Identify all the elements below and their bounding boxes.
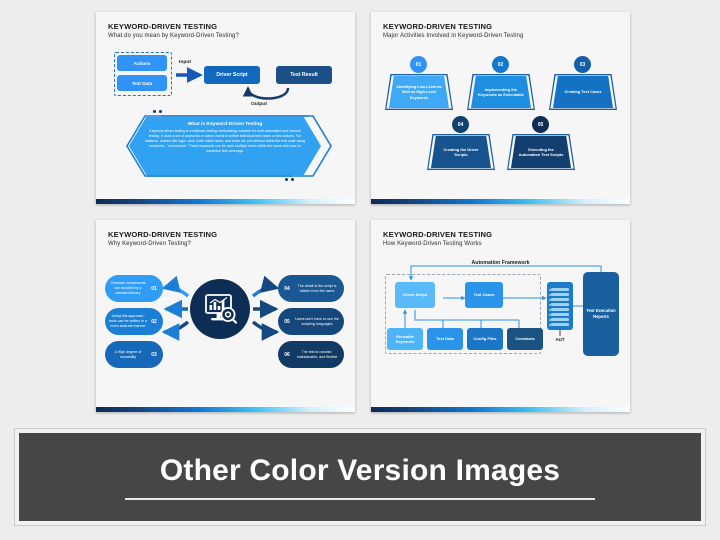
benefit-label-1: Common components are handled by a stand… xyxy=(108,281,148,296)
callout-heading: What is Keyword-Driven Testing xyxy=(145,122,305,127)
benefit-label-4: The detail of the script is hidden from … xyxy=(293,284,341,294)
aut-server-icon xyxy=(547,282,573,330)
component-test-data[interactable]: Test Data xyxy=(427,328,463,350)
slide-2-canvas: KEYWORD-DRIVEN TESTING Major Activities … xyxy=(371,12,630,198)
benefit-number-2: 02 xyxy=(148,319,160,325)
benefit-number-5: 05 xyxy=(281,319,293,325)
slide-2-title: KEYWORD-DRIVEN TESTING xyxy=(383,22,492,31)
component-constants[interactable]: Constants xyxy=(507,328,543,350)
activity-trapezoid-3[interactable]: Creating Test Cases xyxy=(553,76,613,108)
test-execution-reports-node[interactable]: Test Execution Reports xyxy=(583,272,619,356)
activity-badge-3: 03 xyxy=(574,56,591,73)
activity-badge-1: 01 xyxy=(410,56,427,73)
activity-trapezoid-1[interactable]: Identifying Low-Level as Well as High-Le… xyxy=(389,76,449,108)
benefit-number-3: 03 xyxy=(148,352,160,358)
benefit-label-6: The test is concise, maintainable, and f… xyxy=(293,350,341,360)
benefit-pill-1[interactable]: Common components are handled by a stand… xyxy=(105,275,163,302)
slide-3-accent-bar xyxy=(96,407,355,412)
slide-1-accent-bar xyxy=(96,199,355,204)
slide-card-4[interactable]: KEYWORD-DRIVEN TESTING How Keyword-Drive… xyxy=(371,220,630,412)
center-hub xyxy=(190,279,250,339)
callout-body: Keyword-driven testing is a software tes… xyxy=(145,129,305,154)
slide-4-canvas: KEYWORD-DRIVEN TESTING How Keyword-Drive… xyxy=(371,220,630,406)
benefit-pill-3[interactable]: A High degree of reusability 03 xyxy=(105,341,163,368)
slide-1-canvas: KEYWORD-DRIVEN TESTING What do you mean … xyxy=(96,12,355,198)
activity-badge-4: 04 xyxy=(452,116,469,133)
activity-trapezoid-4[interactable]: Creating the Driver Scripts xyxy=(431,136,491,168)
slide-card-3[interactable]: KEYWORD-DRIVEN TESTING Why Keyword-Drive… xyxy=(96,220,355,412)
activity-badge-5: 05 xyxy=(532,116,549,133)
banner-inner: Other Color Version Images xyxy=(19,433,701,521)
activity-trapezoid-2[interactable]: Implementing the Keywords as Executable xyxy=(471,76,531,108)
other-color-version-banner: Other Color Version Images xyxy=(14,428,706,526)
benefit-pill-2[interactable]: Using this approach, tests can be writte… xyxy=(105,308,163,335)
slide-card-1[interactable]: KEYWORD-DRIVEN TESTING What do you mean … xyxy=(96,12,355,204)
slide-2-accent-bar xyxy=(371,199,630,204)
benefit-label-2: Using this approach, tests can be writte… xyxy=(108,314,148,329)
benefit-number-4: 04 xyxy=(281,286,293,292)
benefit-pill-5[interactable]: 05 Users don't have to use the scripting… xyxy=(278,308,344,335)
activity-trapezoid-5[interactable]: Executing the Automation Test Scripts xyxy=(511,136,571,168)
callout-text: What is Keyword-Driven Testing Keyword-d… xyxy=(145,122,305,154)
screenshot-stage: KEYWORD-DRIVEN TESTING What do you mean … xyxy=(0,0,720,540)
slide-4-accent-bar xyxy=(371,407,630,412)
benefit-label-3: A High degree of reusability xyxy=(108,350,148,360)
aut-label: AUT xyxy=(547,337,573,342)
benefit-number-6: 06 xyxy=(281,352,293,358)
banner-title: Other Color Version Images xyxy=(160,454,560,488)
component-config-files[interactable]: Config Files xyxy=(467,328,503,350)
slide-2-subtitle: Major Activities Involved in Keyword-Dri… xyxy=(383,33,523,39)
benefit-pill-6[interactable]: 06 The test is concise, maintainable, an… xyxy=(278,341,344,368)
monitor-analytics-gear-icon xyxy=(203,293,237,325)
banner-underline xyxy=(125,498,595,500)
slide-3-canvas: KEYWORD-DRIVEN TESTING Why Keyword-Drive… xyxy=(96,220,355,406)
activity-badge-2: 02 xyxy=(492,56,509,73)
benefit-number-1: 01 xyxy=(148,286,160,292)
callout-hexagon: What is Keyword-Driven Testing Keyword-d… xyxy=(117,114,333,178)
benefit-label-5: Users don't have to use the scripting la… xyxy=(293,317,341,327)
driver-script-node[interactable]: Driver Script xyxy=(395,282,435,308)
benefit-pill-4[interactable]: 04 The detail of the script is hidden fr… xyxy=(278,275,344,302)
test-cases-node[interactable]: Test Cases xyxy=(465,282,503,308)
slide-card-2[interactable]: KEYWORD-DRIVEN TESTING Major Activities … xyxy=(371,12,630,204)
component-reusable-keywords[interactable]: Reusable Keywords xyxy=(387,328,423,350)
